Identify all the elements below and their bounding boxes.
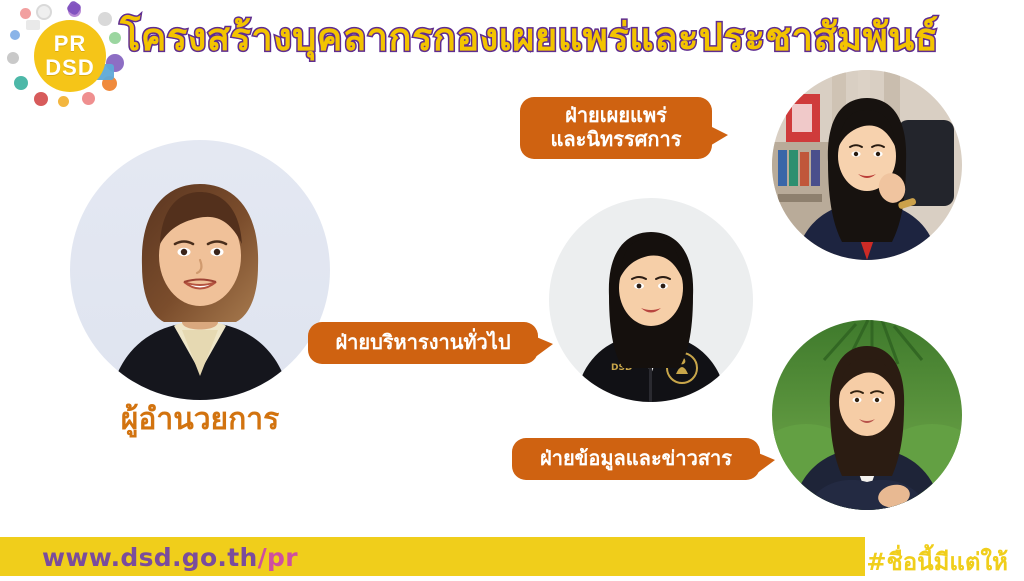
logo-disc: PR DSD	[34, 20, 106, 92]
division-label-exhibition[interactable]: ฝ่ายเผยแพร่ และนิทรรศการ	[520, 97, 712, 159]
campaign-hashtag: #ชื่อนี้มีแต่ให้	[866, 542, 1008, 581]
bubble-tail-icon	[708, 125, 728, 147]
bubble-tail-icon	[756, 452, 775, 474]
website-url-domain: www.dsd.go.th	[42, 543, 258, 572]
director-caption: ผู้อำนวยการ	[70, 396, 330, 443]
photo-admin-officer: DSD	[549, 198, 753, 402]
division-label-admin[interactable]: ฝ่ายบริหารงานทั่วไป	[308, 322, 538, 364]
pr-dsd-logo: PR DSD	[6, 2, 126, 107]
photo-exhibition-officer	[772, 70, 962, 260]
bubble-tail-icon	[534, 336, 553, 358]
photo-director	[70, 140, 330, 400]
website-url-path: /pr	[258, 543, 298, 572]
division-label-exhibition-line2: และนิทรรศการ	[550, 128, 681, 152]
photo-information-officer	[772, 320, 962, 510]
page-title: โครงสร้างบุคลากรกองเผยแพร่และประชาสัมพัน…	[120, 8, 880, 64]
division-label-information[interactable]: ฝ่ายข้อมูลและข่าวสาร	[512, 438, 760, 480]
logo-text-pr: PR	[54, 33, 87, 55]
division-label-exhibition-line1: ฝ่ายเผยแพร่	[565, 104, 667, 128]
logo-text-dsd: DSD	[45, 57, 94, 79]
division-label-information-line1: ฝ่ายข้อมูลและข่าวสาร	[540, 447, 732, 471]
website-url[interactable]: www.dsd.go.th/pr	[42, 543, 298, 572]
division-label-admin-line1: ฝ่ายบริหารงานทั่วไป	[335, 331, 510, 355]
